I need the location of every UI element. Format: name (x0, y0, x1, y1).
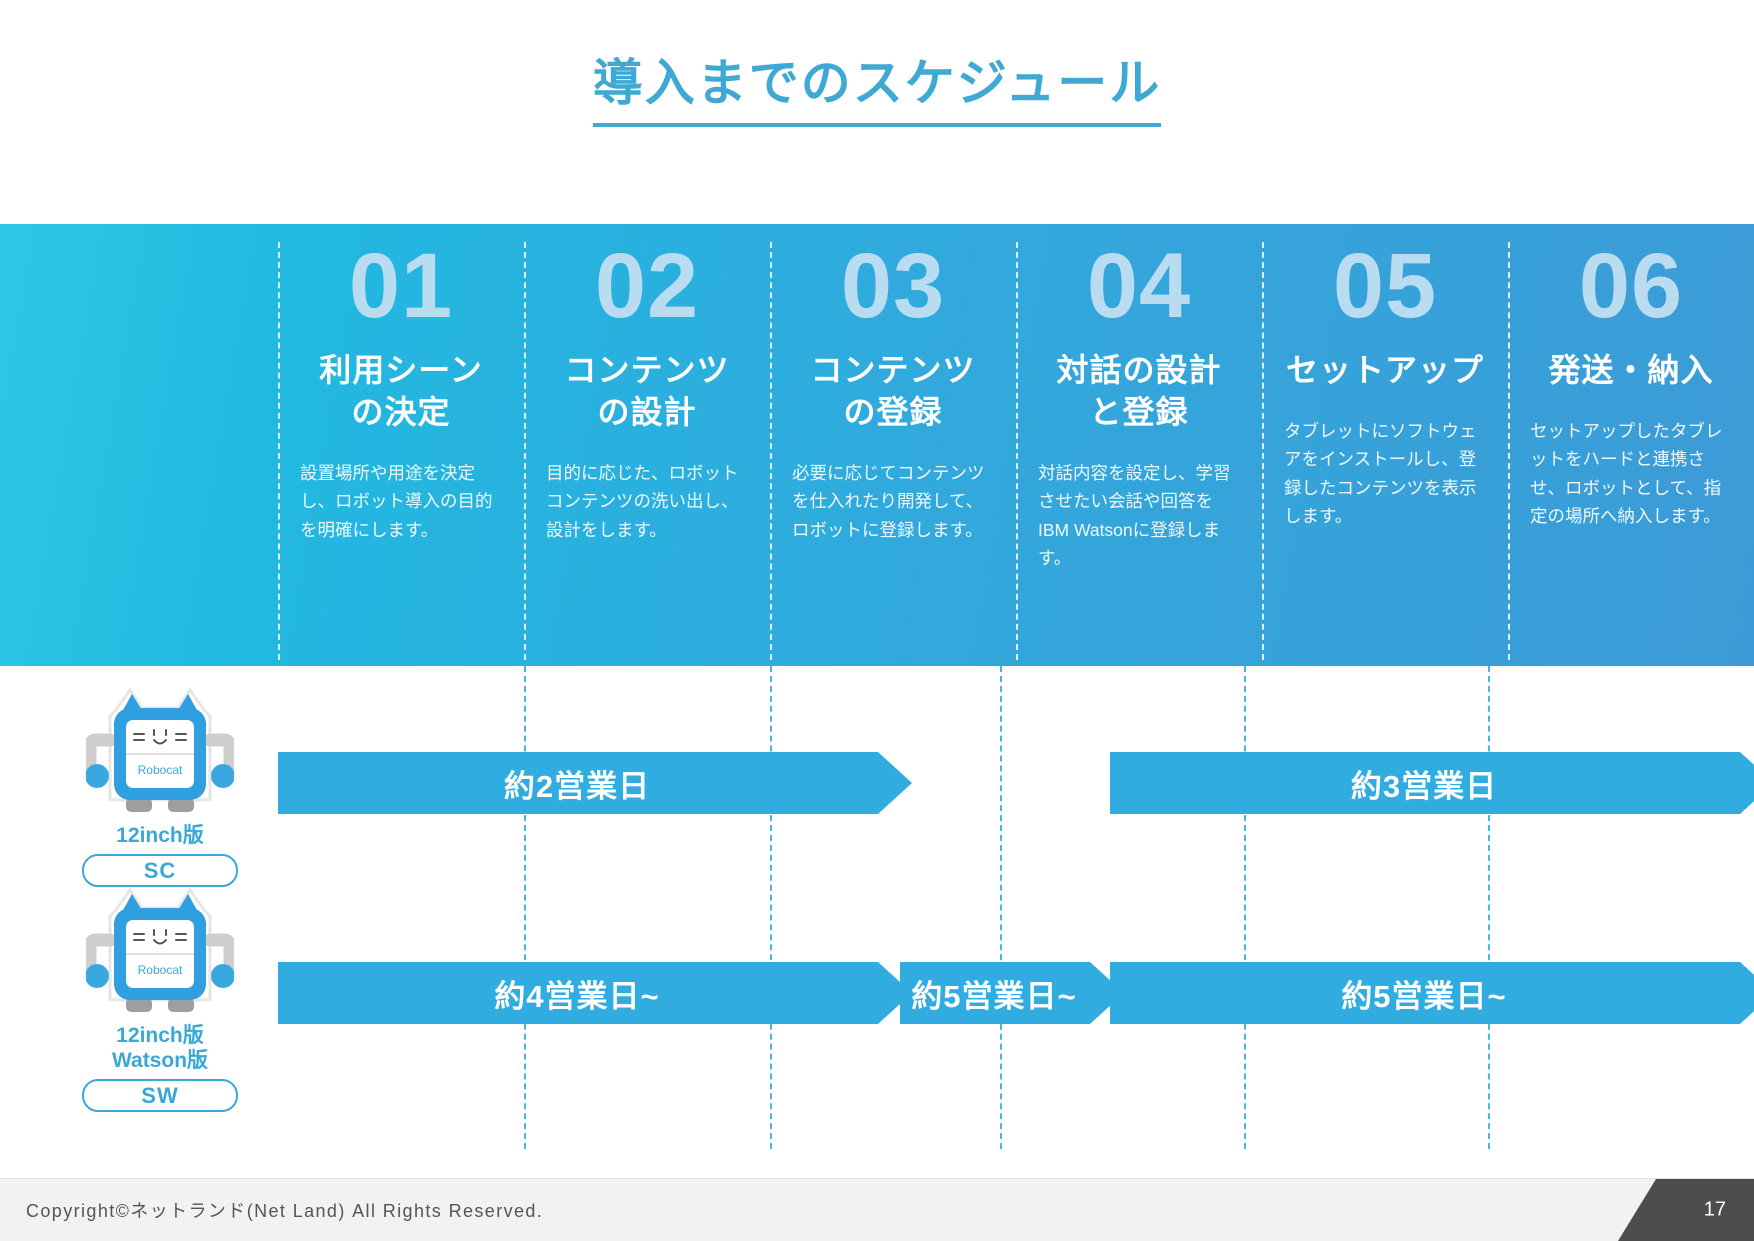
timeline-divider (770, 666, 772, 1149)
step-description: 設置場所や用途を決定し、ロボット導入の目的を明確にします。 (288, 459, 514, 544)
step-title: 利用シーン の決定 (319, 349, 482, 433)
step-number: 02 (595, 238, 699, 335)
step-column-06: 06 発送・納入 セットアップしたタブレットをハードと連携させ、ロボットとして、… (1508, 224, 1754, 666)
product-caption: 12inch版 (60, 824, 260, 849)
svg-text:Robocat: Robocat (138, 763, 183, 777)
timeline-area: Robocat 12inch版 SC (0, 666, 1754, 1166)
timeline-divider (1000, 666, 1002, 1149)
timeline-bar-row1-2: 約3営業日 (1110, 752, 1754, 814)
step-description: 目的に応じた、ロボットコンテンツの洗い出し、設計をします。 (534, 459, 760, 544)
step-column-03: 03 コンテンツ の登録 必要に応じてコンテンツを仕入れたり開発して、ロボットに… (770, 224, 1016, 666)
page-title: 導入までのスケジュール (593, 56, 1162, 127)
robot-icon: Robocat (86, 682, 234, 820)
svg-text:Robocat: Robocat (138, 963, 183, 977)
timeline-bar-label: 約3営業日 (1351, 761, 1497, 806)
copyright-text: Copyright©ネットランド(Net Land) All Rights Re… (26, 1197, 543, 1223)
step-title: 発送・納入 (1548, 349, 1713, 391)
steps-band: 01 利用シーン の決定 設置場所や用途を決定し、ロボット導入の目的を明確にしま… (0, 224, 1754, 666)
timeline-divider (1244, 666, 1246, 1149)
page-number-tab (1618, 1179, 1754, 1241)
step-number: 03 (841, 238, 945, 335)
step-description: 必要に応じてコンテンツを仕入れたり開発して、ロボットに登録します。 (780, 459, 1006, 544)
page-number: 17 (1704, 1199, 1726, 1222)
step-title: コンテンツ の設計 (564, 349, 729, 433)
step-title: 対話の設計 と登録 (1056, 349, 1221, 433)
step-number: 04 (1087, 238, 1191, 335)
step-description: タブレットにソフトウェアをインストールし、登録したコンテンツを表示します。 (1272, 417, 1498, 530)
timeline-dividers (0, 666, 1754, 1166)
step-title: セットアップ (1286, 349, 1484, 391)
steps-left-spacer (0, 224, 278, 666)
timeline-bar-row2-1: 約4営業日~ (278, 962, 912, 1024)
product-sc: Robocat 12inch版 SC (60, 682, 260, 887)
step-column-05: 05 セットアップ タブレットにソフトウェアをインストールし、登録したコンテンツ… (1262, 224, 1508, 666)
step-title: コンテンツ の登録 (810, 349, 975, 433)
step-number: 06 (1579, 238, 1683, 335)
step-number: 05 (1333, 238, 1437, 335)
timeline-bar-row2-3: 約5営業日~ (1110, 962, 1754, 1024)
step-column-02: 02 コンテンツ の設計 目的に応じた、ロボットコンテンツの洗い出し、設計をしま… (524, 224, 770, 666)
step-description: 対話内容を設定し、学習させたい会話や回答をIBM Watsonに登録します。 (1026, 459, 1252, 572)
robot-icon: Robocat (86, 882, 234, 1020)
timeline-divider (524, 666, 526, 1149)
page-title-container: 導入までのスケジュール (0, 56, 1754, 127)
product-sw: Robocat 12inch版 Watson版 SW (60, 882, 260, 1112)
timeline-bar-label: 約2営業日 (504, 761, 650, 806)
timeline-bar-label: 約5営業日~ (911, 971, 1076, 1016)
timeline-bar-label: 約4営業日~ (494, 971, 659, 1016)
timeline-bar-row1-1: 約2営業日 (278, 752, 912, 814)
step-column-04: 04 対話の設計 と登録 対話内容を設定し、学習させたい会話や回答をIBM Wa… (1016, 224, 1262, 666)
timeline-bar-row2-2: 約5営業日~ (900, 962, 1124, 1024)
step-number: 01 (349, 238, 453, 335)
timeline-bar-label: 約5営業日~ (1341, 971, 1506, 1016)
timeline-divider (1488, 666, 1490, 1149)
step-description: セットアップしたタブレットをハードと連携させ、ロボットとして、指定の場所へ納入し… (1518, 417, 1744, 530)
product-pill-sw: SW (82, 1079, 238, 1112)
product-caption: 12inch版 Watson版 (60, 1024, 260, 1074)
footer: Copyright©ネットランド(Net Land) All Rights Re… (0, 1178, 1754, 1241)
step-column-01: 01 利用シーン の決定 設置場所や用途を決定し、ロボット導入の目的を明確にしま… (278, 224, 524, 666)
